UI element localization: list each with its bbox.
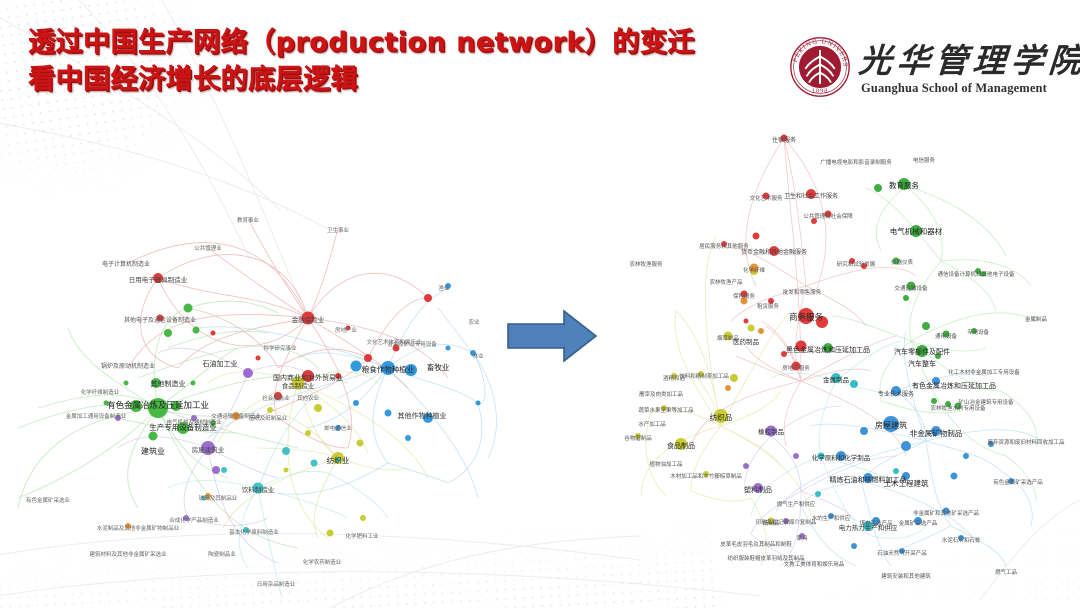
svg-text:电子计算机制造业: 电子计算机制造业 — [102, 260, 150, 268]
svg-text:广播电视电影和影音录制服务: 广播电视电影和影音录制服务 — [820, 158, 892, 166]
right-arrow-icon — [506, 308, 598, 364]
svg-text:化学纤维: 化学纤维 — [743, 266, 766, 274]
svg-text:其他电子及通信设备制造业: 其他电子及通信设备制造业 — [124, 316, 196, 324]
svg-text:印刷品和记录媒介复制品: 印刷品和记录媒介复制品 — [756, 518, 817, 526]
peking-university-seal-icon: PEKING UNIVERSITY 1898 — [789, 36, 851, 98]
svg-text:仪器仪表: 仪器仪表 — [891, 258, 914, 266]
svg-text:文教工美体育和娱乐用品: 文教工美体育和娱乐用品 — [784, 560, 845, 568]
svg-text:畜牧业: 畜牧业 — [427, 362, 450, 372]
network-right-svg: 商务服务 房屋建筑 土木工程建筑 汽车零部件及配件 汽车整车 电气机械和器材 教… — [606, 126, 1068, 594]
svg-text:交通运输设备制造业: 交通运输设备制造业 — [211, 412, 261, 420]
svg-text:塑料制品: 塑料制品 — [744, 485, 772, 494]
institution-logo: PEKING UNIVERSITY 1898 光华管理学院 Guanghua S… — [789, 36, 1034, 104]
svg-text:纺织服装鞋帽皮革羽绒及其制品: 纺织服装鞋帽皮革羽绒及其制品 — [727, 554, 805, 562]
svg-text:日用杂品制造业: 日用杂品制造业 — [257, 580, 296, 588]
svg-text:1898: 1898 — [812, 88, 828, 94]
svg-text:陶瓷制品业: 陶瓷制品业 — [208, 550, 236, 558]
svg-text:卫生事业: 卫生事业 — [327, 226, 350, 234]
svg-text:有色金属矿采选产品: 有色金属矿采选产品 — [993, 478, 1043, 486]
svg-text:金属加工通用设备制造业: 金属加工通用设备制造业 — [66, 412, 127, 420]
logo-chinese-name: 光华管理学院 — [857, 34, 1080, 82]
svg-text:金属矿采选产品: 金属矿采选产品 — [899, 519, 938, 527]
svg-text:非金属矿和其他矿采选产品: 非金属矿和其他矿采选产品 — [913, 509, 980, 517]
svg-text:其他制造业: 其他制造业 — [151, 379, 186, 388]
svg-text:玻璃及其制品业: 玻璃及其制品业 — [199, 494, 238, 502]
svg-text:酒精和酒: 酒精和酒 — [663, 374, 686, 382]
svg-text:皮革毛皮羽毛及其制品和制鞋: 皮革毛皮羽毛及其制品和制鞋 — [720, 540, 792, 548]
svg-text:木材加工品和木竹藤棕草制品: 木材加工品和木竹藤棕草制品 — [670, 472, 742, 480]
svg-text:文化艺术服务: 文化艺术服务 — [749, 194, 783, 202]
svg-text:建筑安装和其他建筑: 建筑安装和其他建筑 — [881, 572, 931, 580]
svg-text:金属制品: 金属制品 — [823, 375, 849, 384]
svg-text:饮料制造业: 饮料制造业 — [242, 485, 275, 494]
edges-red-r — [691, 138, 916, 456]
title-line-2: 看中国经济增长的底层逻辑 — [28, 61, 768, 98]
svg-text:电气机械及器材制造业: 电气机械及器材制造业 — [166, 418, 222, 426]
svg-text:化学农药制造业: 化学农药制造业 — [303, 558, 342, 566]
svg-text:货币金融和其他金融服务: 货币金融和其他金融服务 — [741, 248, 807, 256]
svg-text:日用电子器具制造业: 日用电子器具制造业 — [129, 275, 188, 284]
svg-text:教育服务: 教育服务 — [889, 180, 919, 190]
svg-text:锅炉及原动机制造业: 锅炉及原动机制造业 — [101, 362, 155, 370]
svg-text:粮食作物种植业: 粮食作物种植业 — [362, 364, 415, 374]
svg-text:有色金属冶炼和压延加工品: 有色金属冶炼和压延加工品 — [912, 381, 996, 390]
svg-text:金属制品: 金属制品 — [1025, 315, 1048, 323]
slide-canvas: 透过中国生产网络（production network）的变迁 看中国经济增长的… — [0, 0, 1080, 608]
svg-text:电信服务: 电信服务 — [913, 156, 936, 164]
svg-text:非金属矿物制品: 非金属矿物制品 — [910, 428, 963, 438]
svg-text:商务服务: 商务服务 — [789, 312, 824, 323]
title-line-1: 透过中国生产网络（production network）的变迁 — [28, 24, 768, 61]
svg-text:研究和试验发展: 研究和试验发展 — [837, 260, 876, 268]
svg-text:水产加工品: 水产加工品 — [638, 420, 666, 428]
svg-text:电气机械和器材: 电气机械和器材 — [890, 226, 943, 236]
svg-text:汽车整车: 汽车整车 — [908, 359, 936, 368]
svg-text:房屋建筑: 房屋建筑 — [875, 420, 907, 430]
svg-text:文化艺术体育和娱乐业: 文化艺术体育和娱乐业 — [366, 338, 422, 346]
svg-text:家具: 家具 — [796, 534, 808, 542]
svg-text:石油天然气开采产品: 石油天然气开采产品 — [877, 549, 927, 557]
svg-text:林业: 林业 — [472, 352, 484, 360]
svg-text:有色金属冶炼及压延加工业: 有色金属冶炼及压延加工业 — [107, 400, 209, 411]
svg-text:公共管理业: 公共管理业 — [194, 244, 222, 252]
page-title: 透过中国生产网络（production network）的变迁 看中国经济增长的… — [28, 24, 768, 98]
svg-text:邮电通信业: 邮电通信业 — [324, 424, 352, 432]
svg-text:通用设备: 通用设备 — [935, 332, 958, 340]
svg-text:有色金属矿采选业: 有色金属矿采选业 — [26, 496, 71, 504]
svg-text:水的生产和供应: 水的生产和供应 — [812, 514, 851, 522]
svg-text:其他作物种植业: 其他作物种植业 — [398, 411, 447, 420]
svg-text:燃气生产和供应: 燃气生产和供应 — [777, 500, 816, 508]
logo-english-name: Guanghua School of Management — [861, 81, 1047, 96]
svg-text:屠宰及肉类加工品: 屠宰及肉类加工品 — [639, 390, 684, 398]
svg-text:废弃资源和废旧材料回收加工品: 废弃资源和废旧材料回收加工品 — [987, 438, 1065, 446]
svg-text:饮料和精制茶加工品: 饮料和精制茶加工品 — [679, 372, 729, 380]
svg-text:批发和零售服务: 批发和零售服务 — [783, 288, 822, 296]
svg-text:专用设备: 专用设备 — [967, 328, 990, 336]
svg-text:化学纤维制造业: 化学纤维制造业 — [81, 388, 120, 396]
node-labels-left: 有色金属冶炼及压延加工业 生产专用设备制造业 建筑业 其他制造业 石油加工业 金… — [26, 216, 484, 588]
svg-text:居民服务和其他服务: 居民服务和其他服务 — [699, 242, 749, 250]
svg-text:保险服务: 保险服务 — [733, 292, 756, 300]
svg-text:其他农业: 其他农业 — [297, 394, 320, 402]
svg-text:食品制造业: 食品制造业 — [282, 381, 315, 390]
svg-text:燃气工品: 燃气工品 — [995, 568, 1018, 576]
svg-text:化工木材非金属加工专用设备: 化工木材非金属加工专用设备 — [948, 368, 1020, 376]
svg-text:橡胶制品: 橡胶制品 — [758, 427, 784, 436]
svg-text:社会服务业: 社会服务业 — [262, 394, 290, 402]
svg-text:谷物磨制品: 谷物磨制品 — [624, 434, 652, 442]
svg-text:汽车零部件及配件: 汽车零部件及配件 — [894, 347, 950, 356]
svg-text:黑色金属冶炼和压延加工品: 黑色金属冶炼和压延加工品 — [786, 345, 870, 354]
svg-text:卫生和社会工作服务: 卫生和社会工作服务 — [784, 192, 838, 200]
svg-text:金融保险业: 金融保险业 — [292, 315, 325, 324]
svg-text:煤炭采选产品: 煤炭采选产品 — [859, 519, 893, 527]
svg-text:植物油加工品: 植物油加工品 — [649, 460, 683, 468]
svg-text:租赁服务: 租赁服务 — [757, 302, 780, 310]
network-graph-right: 商务服务 房屋建筑 土木工程建筑 汽车零部件及配件 汽车整车 电气机械和器材 教… — [606, 126, 1068, 594]
svg-text:农业: 农业 — [468, 318, 480, 326]
svg-text:住宿服务: 住宿服务 — [772, 136, 796, 144]
svg-text:合成化学产品制造业: 合成化学产品制造业 — [169, 516, 219, 524]
svg-text:石油加工业: 石油加工业 — [203, 359, 238, 368]
svg-text:建筑业: 建筑业 — [141, 446, 165, 456]
svg-text:基本化学原料制造业: 基本化学原料制造业 — [229, 528, 279, 536]
svg-text:交通运输设备: 交通运输设备 — [894, 284, 928, 292]
svg-text:渔业: 渔业 — [438, 284, 450, 292]
svg-text:建筑材料及其他非金属矿采选业: 建筑材料及其他非金属矿采选业 — [89, 550, 167, 558]
svg-text:矿山冶金建筑专用设备: 矿山冶金建筑专用设备 — [958, 398, 1014, 406]
svg-text:农林牧渔产品: 农林牧渔产品 — [709, 278, 743, 286]
svg-text:水泥石灰和石膏: 水泥石灰和石膏 — [942, 536, 981, 544]
svg-text:科学研究事业: 科学研究事业 — [263, 344, 297, 352]
svg-text:化学原料和化学制品: 化学原料和化学制品 — [812, 453, 871, 462]
edges-blue — [198, 288, 496, 498]
svg-text:房地产业: 房地产业 — [335, 326, 358, 334]
svg-text:蔬菜水果坚果等加工品: 蔬菜水果坚果等加工品 — [638, 406, 694, 414]
svg-text:纺织业: 纺织业 — [327, 455, 350, 465]
svg-text:食品制品: 食品制品 — [667, 441, 695, 450]
svg-text:农林牧渔水利专用设备: 农林牧渔水利专用设备 — [930, 404, 986, 412]
svg-text:房屋建筑业: 房屋建筑业 — [192, 445, 225, 454]
svg-text:纺织品: 纺织品 — [710, 412, 733, 422]
svg-text:房地产服务: 房地产服务 — [782, 364, 810, 372]
svg-text:烟草制品: 烟草制品 — [717, 334, 740, 342]
svg-text:教育事业: 教育事业 — [237, 216, 260, 224]
svg-text:专业技术服务: 专业技术服务 — [878, 390, 914, 398]
svg-text:水泥制品及其他非金属矿物制品业: 水泥制品及其他非金属矿物制品业 — [97, 524, 180, 532]
network-graph-left: 有色金属冶炼及压延加工业 生产专用设备制造业 建筑业 其他制造业 石油加工业 金… — [8, 118, 508, 598]
svg-text:公共管理和社会保障: 公共管理和社会保障 — [803, 212, 853, 220]
svg-text:精炼石油和核燃料加工品: 精炼石油和核燃料加工品 — [830, 475, 907, 484]
svg-text:农林牧渔服务: 农林牧渔服务 — [629, 260, 663, 268]
network-left-svg: 有色金属冶炼及压延加工业 生产专用设备制造业 建筑业 其他制造业 石油加工业 金… — [8, 118, 508, 598]
svg-text:国内商业和对外贸易业: 国内商业和对外贸易业 — [273, 373, 343, 382]
transition-arrow — [506, 308, 598, 364]
svg-text:化学肥料工业: 化学肥料工业 — [345, 532, 379, 540]
svg-text:通信设备计算机和其他电子设备: 通信设备计算机和其他电子设备 — [937, 270, 1015, 278]
